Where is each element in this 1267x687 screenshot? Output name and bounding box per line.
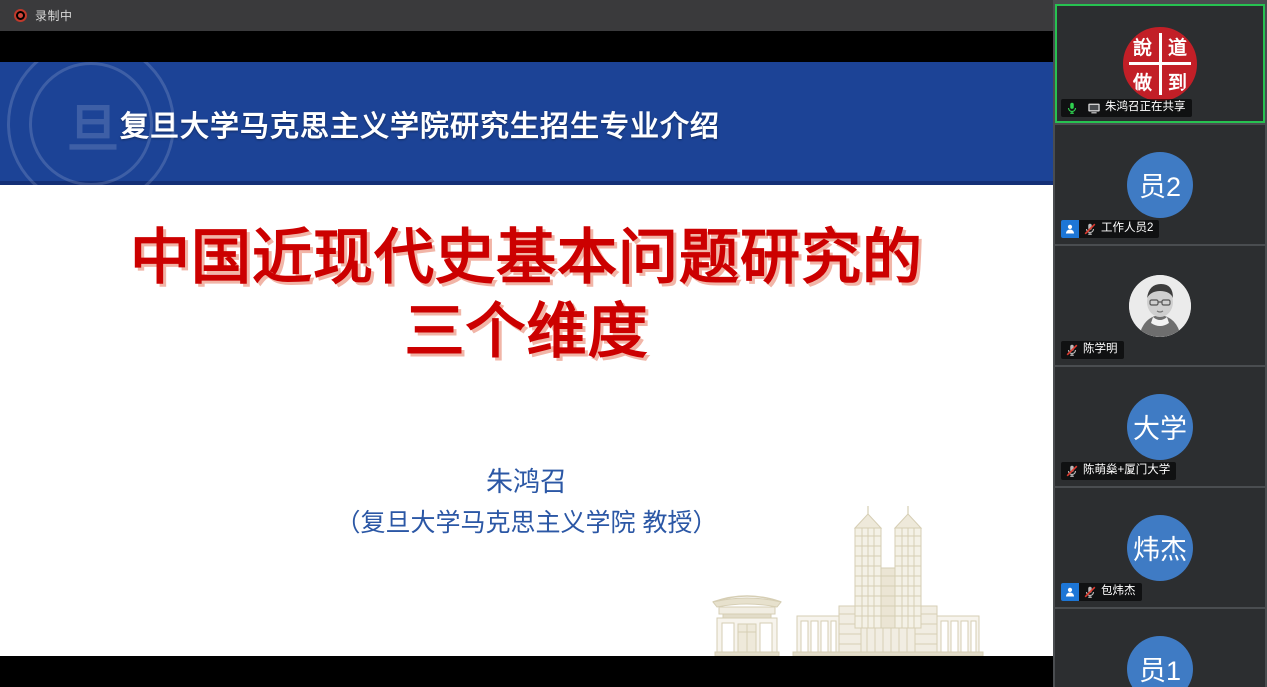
- slide-title-line-2: 三个维度: [0, 296, 1053, 370]
- participant-label-1: 工作人员2: [1061, 220, 1159, 238]
- fudan-university-seal-icon: FUDAN UNIVERSITY 旦 1905: [7, 62, 175, 208]
- slide-main-title: 中国近现代史基本问题研究的 三个维度: [0, 222, 1053, 370]
- seal-char-1: 說: [1125, 29, 1160, 64]
- seal-year-text: 1905: [7, 188, 175, 203]
- avatar-initials: 员1: [1127, 636, 1193, 687]
- seal-char-2: 道: [1160, 29, 1195, 64]
- shared-screen-area: 复旦大学马克思主义学院研究生招生专业介绍 FUDAN UNIVERSITY 旦 …: [0, 31, 1053, 687]
- screen-share-icon: [1086, 100, 1102, 116]
- avatar-seal-icon: 說 道 做 到: [1123, 27, 1197, 101]
- recording-label: 录制中: [35, 7, 73, 24]
- participant-label-3: 陈萌燊+厦门大学: [1061, 462, 1176, 480]
- slide-banner-title: 复旦大学马克思主义学院研究生招生专业介绍: [120, 62, 720, 185]
- fudan-campus-buildings-illustration: [705, 506, 1035, 656]
- participant-sidebar[interactable]: 說 道 做 到 朱鸿召正在共享 员2: [1053, 0, 1267, 687]
- participant-tile-3[interactable]: 大学 陈萌燊+厦门大学: [1055, 367, 1265, 486]
- participant-tile-5[interactable]: 员1: [1055, 609, 1265, 687]
- microphone-muted-icon: [1082, 584, 1098, 600]
- recording-bar: 录制中: [0, 0, 1053, 31]
- participant-name-2: 陈学明: [1083, 344, 1118, 356]
- participant-label-0: 朱鸿召正在共享: [1061, 99, 1192, 117]
- participant-name-1: 工作人员2: [1101, 223, 1153, 235]
- participant-name-4: 包炜杰: [1101, 586, 1136, 598]
- seal-char-4: 到: [1160, 64, 1195, 99]
- participant-video-5: 员1: [1057, 611, 1263, 687]
- presenter-name: 朱鸿召: [486, 467, 567, 497]
- avatar-initials: 大学: [1127, 394, 1193, 460]
- participant-name-0: 朱鸿召正在共享: [1105, 102, 1186, 114]
- participant-label-4: 包炜杰: [1061, 583, 1142, 601]
- person-badge-icon: [1061, 583, 1079, 601]
- record-dot-icon: [14, 9, 27, 22]
- participant-tile-0[interactable]: 說 道 做 到 朱鸿召正在共享: [1055, 4, 1265, 123]
- slide-title-line-1: 中国近现代史基本问题研究的: [0, 222, 1053, 296]
- microphone-muted-icon: [1064, 463, 1080, 479]
- microphone-icon: [1064, 100, 1080, 116]
- meeting-window: 录制中 复旦大学马克思主义学院研究生招生专业介绍 FUDAN UNIVERSIT…: [0, 0, 1267, 687]
- person-badge-icon: [1061, 220, 1079, 238]
- avatar-initials: 炜杰: [1127, 515, 1193, 581]
- participant-tile-4[interactable]: 炜杰 包炜杰: [1055, 488, 1265, 607]
- participant-tile-1[interactable]: 员2 工作人员2: [1055, 125, 1265, 244]
- seal-glyph: 旦: [29, 62, 153, 186]
- microphone-muted-icon: [1064, 342, 1080, 358]
- presentation-slide: 复旦大学马克思主义学院研究生招生专业介绍 FUDAN UNIVERSITY 旦 …: [0, 62, 1053, 656]
- participant-name-3: 陈萌燊+厦门大学: [1083, 465, 1170, 477]
- participant-tile-2[interactable]: 陈学明: [1055, 246, 1265, 365]
- user-portrait-photo: [1129, 275, 1191, 337]
- seal-char-3: 做: [1125, 64, 1160, 99]
- avatar-initials: 员2: [1127, 152, 1193, 218]
- participant-label-2: 陈学明: [1061, 341, 1124, 359]
- microphone-muted-icon: [1082, 221, 1098, 237]
